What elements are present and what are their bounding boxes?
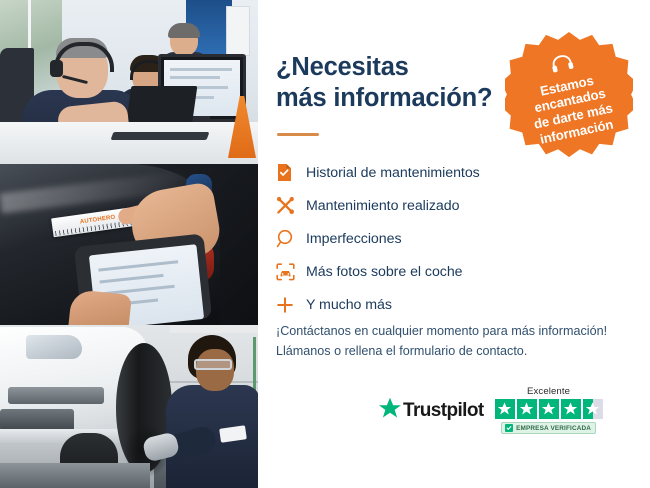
tablet-row <box>100 274 164 284</box>
rating-star-icon <box>539 399 559 419</box>
trustpilot-rating-label: Excelente <box>527 386 570 397</box>
verified-company-badge: EMPRESA VERIFICADA <box>501 422 596 434</box>
rating-half-star-icon <box>583 399 603 419</box>
feature-list: Historial de mantenimientos Mantenimient… <box>276 156 606 321</box>
photo-column: AUTOHERO <box>0 0 258 488</box>
verified-check-icon <box>505 424 513 432</box>
car-scan-icon <box>276 263 306 281</box>
feature-item-imperfections: Imperfecciones <box>276 222 606 255</box>
tools-cross-icon <box>276 196 306 215</box>
feature-label: Imperfecciones <box>306 231 402 247</box>
page-title: ¿Necesitas más información? <box>276 52 526 114</box>
trustpilot-star-icon <box>378 397 402 425</box>
laptop-keyboard <box>111 132 210 140</box>
feature-item-much-more: Y mucho más <box>276 288 606 321</box>
feature-item-maintenance-done: Mantenimiento realizado <box>276 189 606 222</box>
contact-paragraph: ¡Contáctanos en cualquier momento para m… <box>276 322 626 361</box>
trustpilot-logo[interactable]: Trustpilot <box>378 397 484 425</box>
car-headlight <box>26 335 82 359</box>
call-center-agents-photo <box>0 0 258 164</box>
mechanic <box>166 335 258 488</box>
mechanic-wheel-photo <box>0 325 258 488</box>
wall-poster <box>226 6 250 56</box>
trustpilot-rating[interactable]: Trustpilot Excelente <box>378 386 626 434</box>
headset-earcup-icon <box>50 60 63 77</box>
ruler-brand-suffix: HERO <box>97 215 116 223</box>
plus-icon <box>276 296 306 314</box>
rating-star-icon <box>495 399 515 419</box>
front-desk <box>0 122 258 164</box>
background-agent-hair <box>168 23 200 38</box>
trustpilot-star-rating <box>495 399 603 419</box>
trustpilot-wordmark: Trustpilot <box>403 400 484 422</box>
rating-star-icon <box>517 399 537 419</box>
magnifier-icon <box>276 229 306 248</box>
trustpilot-score-block: Excelente <box>495 386 603 434</box>
feature-label: Historial de mantenimientos <box>306 165 480 181</box>
tablet-row <box>98 260 178 271</box>
support-badge: Estamos encantados de darte más informac… <box>505 32 633 160</box>
headset-icon <box>549 52 575 78</box>
title-underline-rule <box>277 133 319 136</box>
vehicle-inspection-photo: AUTOHERO <box>0 164 258 325</box>
feature-label: Y mucho más <box>306 297 392 313</box>
contact-line-1: ¡Contáctanos en cualquier momento para m… <box>276 324 607 338</box>
feature-item-more-photos: Más fotos sobre el coche <box>276 255 606 288</box>
safety-glasses-icon <box>194 359 232 370</box>
garage-ceiling <box>170 325 258 333</box>
car-lift-platform <box>0 463 150 488</box>
rating-star-icon <box>561 399 581 419</box>
screen-row <box>170 68 232 71</box>
information-banner: AUTOHERO <box>0 0 650 488</box>
feature-label: Más fotos sobre el coche <box>306 264 463 280</box>
content-panel: ¿Necesitas más información? Estamos enca… <box>258 0 650 488</box>
feature-label: Mantenimiento realizado <box>306 198 459 214</box>
contact-line-2: Llámanos o rellena el formulario de cont… <box>276 344 527 358</box>
feature-item-maintenance-history: Historial de mantenimientos <box>276 156 606 189</box>
car-grille-upper <box>8 387 104 404</box>
badge-text: Estamos encantados de darte más informac… <box>526 70 617 148</box>
car-grille-lower <box>0 409 74 431</box>
screen-row <box>170 76 220 79</box>
verified-company-label: EMPRESA VERIFICADA <box>516 425 591 432</box>
document-check-icon <box>276 163 306 182</box>
mechanic-face <box>196 349 234 391</box>
ruler-brand-prefix: AUTO <box>80 217 98 225</box>
badge-content: Estamos encantados de darte más informac… <box>493 20 645 172</box>
